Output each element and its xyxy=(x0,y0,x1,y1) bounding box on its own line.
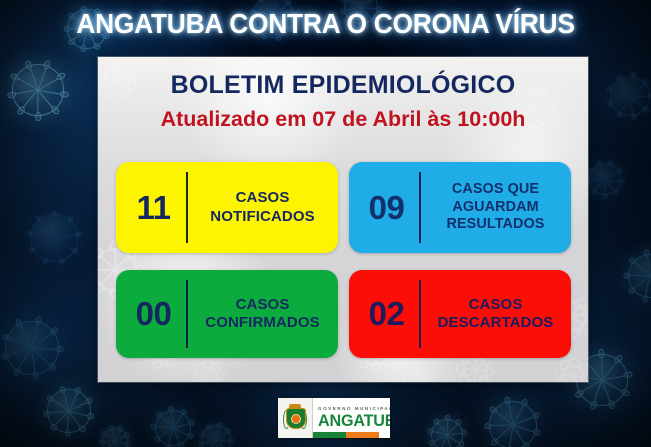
stat-card-label-line: NOTIFICADOS xyxy=(194,208,332,226)
logo-stripe xyxy=(313,432,390,438)
stat-card-label-line: CASOS xyxy=(194,296,332,314)
stat-card: 11CASOSNOTIFICADOS xyxy=(116,162,338,253)
logo-text: Governo Municipal ANGATUBA xyxy=(313,398,390,438)
page-title: ANGATUBA CONTRA O CORONA VÍRUS xyxy=(13,8,638,40)
stat-card: 00CASOSCONFIRMADOS xyxy=(116,270,338,358)
stat-card-label: CASOSNOTIFICADOS xyxy=(188,189,338,226)
stat-card-label: CASOS QUEAGUARDAMRESULTADOS xyxy=(421,181,571,234)
stat-card-label-line: AGUARDAM xyxy=(427,199,565,217)
stat-card-label-line: DESCARTADOS xyxy=(427,314,565,332)
bulletin-panel: BOLETIM EPIDEMIOLÓGICO Atualizado em 07 … xyxy=(98,57,588,382)
stat-card-number: 11 xyxy=(116,189,186,227)
stat-card-number: 09 xyxy=(349,189,419,227)
logo-city-name: ANGATUBA xyxy=(318,412,390,429)
stat-card-label-line: CASOS xyxy=(194,189,332,207)
panel-update-timestamp: Atualizado em 07 de Abril às 10:00h xyxy=(98,100,588,132)
municipality-logo: Governo Municipal ANGATUBA xyxy=(278,398,390,438)
stat-card-label-line: CASOS xyxy=(427,296,565,314)
coat-of-arms-icon xyxy=(278,398,313,438)
panel-heading: BOLETIM EPIDEMIOLÓGICO xyxy=(98,57,588,100)
stat-card-number: 02 xyxy=(349,295,419,333)
poster-root: ANGATUBA CONTRA O CORONA VÍRUS BOLETIM E… xyxy=(0,0,651,447)
stat-card-grid: 11CASOSNOTIFICADOS09CASOS QUEAGUARDAMRES… xyxy=(108,162,578,358)
stat-card-label-line: CONFIRMADOS xyxy=(194,314,332,332)
stat-card-label-line: CASOS QUE xyxy=(427,181,565,199)
stat-card-number: 00 xyxy=(116,295,186,333)
stat-card: 09CASOS QUEAGUARDAMRESULTADOS xyxy=(349,162,571,253)
stat-card-label: CASOSDESCARTADOS xyxy=(421,296,571,333)
stat-card-label: CASOSCONFIRMADOS xyxy=(188,296,338,333)
stat-card: 02CASOSDESCARTADOS xyxy=(349,270,571,358)
stat-card-label-line: RESULTADOS xyxy=(427,216,565,234)
